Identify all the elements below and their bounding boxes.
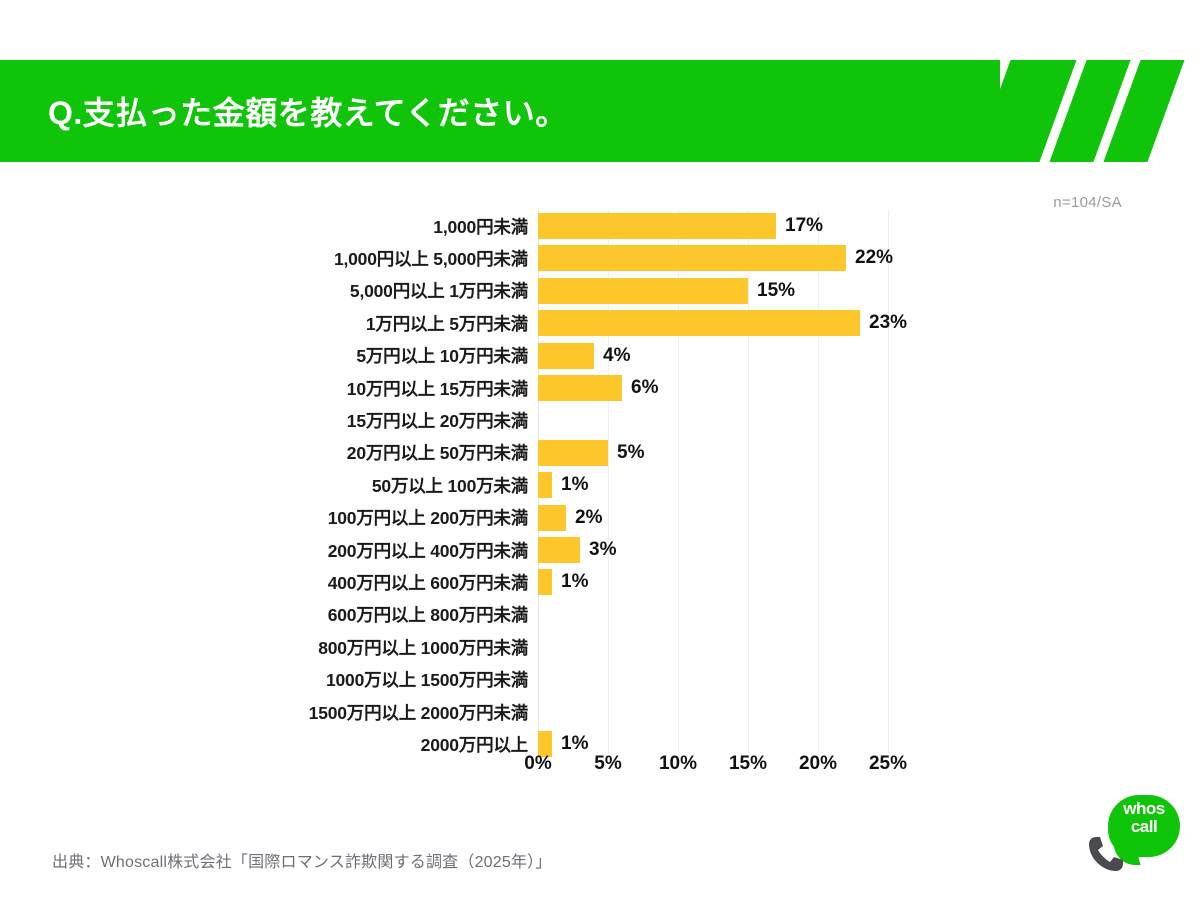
chart-row: 5,000円以上 1万円未満15% [0,275,1200,307]
bar-zone: 6% [538,375,658,401]
bar-zone: 22% [538,245,893,271]
category-label: 1500万円以上 2000万円未満 [108,700,528,725]
bar-value-label: 5% [617,442,644,464]
bar-value-label: 15% [757,280,795,302]
x-axis: 0%5%10%15%20%25% [538,753,938,783]
category-label: 1,000円以上 5,000円未満 [108,246,528,271]
bar-value-label: 1% [561,733,588,755]
chart-row: 1万円以上 5万円未満23% [0,307,1200,339]
bar [538,569,552,595]
x-axis-tick-label: 0% [524,753,551,775]
category-label: 1,000円未満 [108,214,528,239]
logo-line-1: whos [1108,800,1180,818]
source-citation: 出典：Whoscall株式会社「国際ロマンス詐欺関する調査（2025年）」 [52,848,552,872]
bar-value-label: 1% [561,474,588,496]
category-label: 1万円以上 5万円未満 [108,311,528,336]
x-axis-tick-label: 25% [869,753,907,775]
chart-row: 100万円以上 200万円未満2% [0,502,1200,534]
chart-row: 1500万円以上 2000万円未満 [0,696,1200,728]
bar-value-label: 23% [869,312,907,334]
bar [538,245,846,271]
chart-rows: 1,000円未満17%1,000円以上 5,000円未満22%5,000円以上 … [0,210,1200,761]
bar [538,375,622,401]
chart-row: 400万円以上 600万円未満1% [0,566,1200,598]
bar-zone: 5% [538,440,644,466]
chart-row: 600万円以上 800万円未満 [0,599,1200,631]
x-axis-tick-label: 20% [799,753,837,775]
phone-handset-icon [1086,831,1132,877]
chart-row: 5万円以上 10万円未満4% [0,340,1200,372]
chart-row: 800万円以上 1000万円未満 [0,631,1200,663]
bar [538,278,748,304]
bar-zone: 1% [538,472,588,498]
bar-value-label: 6% [631,377,658,399]
category-label: 800万円以上 1000万円未満 [108,635,528,660]
bar [538,472,552,498]
chart-row: 1,000円以上 5,000円未満22% [0,242,1200,274]
category-label: 20万円以上 50万円未満 [108,440,528,465]
bar [538,310,860,336]
bar-value-label: 22% [855,247,893,269]
bar-value-label: 2% [575,507,602,529]
bar-zone: 3% [538,537,616,563]
bar [538,343,594,369]
category-label: 5,000円以上 1万円未満 [108,278,528,303]
whoscall-logo[interactable]: whos call [1086,795,1182,880]
bar-zone: 1% [538,569,588,595]
x-axis-tick-label: 10% [659,753,697,775]
category-label: 2000万円以上 [108,732,528,757]
chart-container: n=104/SA 1,000円未満17%1,000円以上 5,000円未満22%… [0,162,1200,822]
category-label: 400万円以上 600万円未満 [108,570,528,595]
chart-row: 1000万以上 1500万円未満 [0,663,1200,695]
bar-value-label: 17% [785,215,823,237]
bar [538,440,608,466]
bar-value-label: 1% [561,571,588,593]
bar-zone: 23% [538,310,907,336]
bar [538,213,776,239]
category-label: 200万円以上 400万円未満 [108,538,528,563]
chart-row: 10万円以上 15万円未満6% [0,372,1200,404]
category-label: 1000万以上 1500万円未満 [108,667,528,692]
chart-row: 1,000円未満17% [0,210,1200,242]
bar-zone: 17% [538,213,823,239]
category-label: 15万円以上 20万円未満 [108,408,528,433]
x-axis-tick-label: 5% [594,753,621,775]
bar-zone: 4% [538,343,630,369]
bar-value-label: 3% [589,539,616,561]
x-axis-tick-label: 15% [729,753,767,775]
category-label: 50万以上 100万未満 [108,473,528,498]
bar-value-label: 4% [603,345,630,367]
chart-row: 20万円以上 50万円未満5% [0,437,1200,469]
bar-zone: 15% [538,278,795,304]
page-title: Q.支払った金額を教えてください。 [48,60,568,162]
header-banner: Q.支払った金額を教えてください。 [0,60,1200,162]
bar-chart: 1,000円未満17%1,000円以上 5,000円未満22%5,000円以上 … [0,202,1200,822]
category-label: 100万円以上 200万円未満 [108,505,528,530]
chart-row: 200万円以上 400万円未満3% [0,534,1200,566]
bar [538,505,566,531]
bar-zone: 2% [538,505,602,531]
category-label: 10万円以上 15万円未満 [108,376,528,401]
category-label: 600万円以上 800万円未満 [108,602,528,627]
chart-row: 50万以上 100万未満1% [0,469,1200,501]
category-label: 5万円以上 10万円未満 [108,343,528,368]
logo-wordmark: whos call [1108,800,1180,835]
chart-row: 15万円以上 20万円未満 [0,404,1200,436]
bar [538,537,580,563]
